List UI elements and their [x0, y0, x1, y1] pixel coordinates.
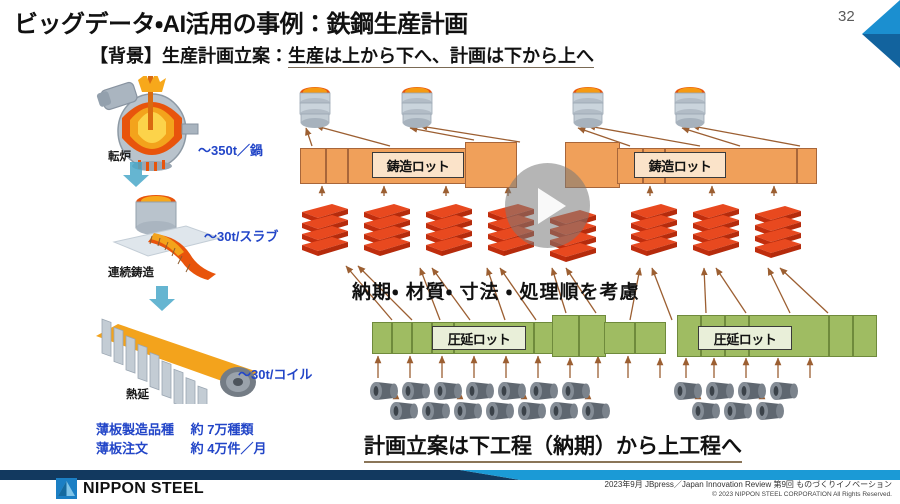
rolling-lot-label: 圧延ロット	[698, 326, 792, 350]
footer-source-line: 2023年9月 JBpress／Japan Innovation Review …	[605, 479, 893, 490]
steel-coil-icon	[420, 401, 450, 421]
subtitle-underlined: 生産は上から下へ、計画は下から上へ	[288, 46, 594, 68]
page-title: ビッグデータ・AI活用の事例：鉄鋼生産計画	[14, 4, 468, 39]
footer: NIPPON STEEL 2023年9月 JBpress／Japan Innov…	[0, 470, 900, 504]
slide-canvas: ビッグデータ・AI活用の事例：鉄鋼生産計画 32 【背景】生産計画立案：生産は上…	[0, 0, 900, 504]
steel-coil-icon	[368, 381, 398, 401]
nippon-steel-mark	[56, 478, 77, 499]
steel-coil-icon	[464, 381, 494, 401]
casting-lot-cell	[797, 148, 817, 184]
steel-coil-icon	[452, 401, 482, 421]
rolling-lot-cell	[552, 315, 579, 357]
rolling-lot-cell	[604, 322, 635, 354]
play-button-icon[interactable]	[505, 163, 590, 248]
casting-lot-bar	[465, 142, 517, 188]
nippon-steel-logo: NIPPON STEEL	[56, 478, 204, 499]
play-triangle	[538, 188, 566, 224]
process-column: 転炉 ～350t／鍋 連続鋳造 ～30t/スラブ	[86, 74, 296, 404]
footer-copyright: © 2023 NIPPON STEEL CORPORATION All Righ…	[712, 491, 892, 498]
steel-coil-icon	[400, 381, 430, 401]
steel-coil-icon	[496, 381, 526, 401]
rolling-lot-cell	[392, 322, 412, 354]
steel-coil-icon	[580, 401, 610, 421]
rolling-lot-cell	[372, 322, 392, 354]
steel-coil-icon	[672, 381, 702, 401]
steel-slab-stack-icon	[627, 200, 679, 256]
steel-coil-icon	[768, 381, 798, 401]
process-note-hotrolling: ～30t/コイル	[238, 364, 312, 383]
steel-coil-icon	[432, 381, 462, 401]
steel-slab-stack-icon	[422, 200, 474, 256]
blue-chevron-icon	[840, 0, 900, 68]
rolling-lot-bar	[552, 315, 606, 357]
rolling-lot-bar	[604, 322, 666, 354]
steel-coil-icon	[388, 401, 418, 421]
steel-slab-stack-icon	[751, 202, 803, 258]
steel-coil-icon	[722, 401, 752, 421]
casting-lot-label: 鋳造ロット	[372, 152, 464, 178]
steel-coil-icon	[754, 401, 784, 421]
rolling-lot-cell	[829, 315, 853, 357]
steel-coil-icon	[704, 381, 734, 401]
rolling-lot-cell	[579, 315, 606, 357]
casting-lot-cell	[326, 148, 348, 184]
process-label-hotrolling: 熱延	[126, 386, 149, 402]
logo-text: NIPPON STEEL	[83, 480, 204, 498]
steel-coil-icon	[548, 401, 578, 421]
steel-coil-icon	[528, 381, 558, 401]
steel-coil-icon	[516, 401, 546, 421]
rolling-lot-label: 圧延ロット	[432, 326, 526, 350]
steel-slab-stack-icon	[689, 200, 741, 256]
statistics-block: 薄板製造品種 約 7万種類 薄板注文 約 4万件／月	[96, 420, 266, 458]
planning-direction-text: 計画立案は下工程（納期）から上工程へ	[364, 430, 742, 463]
casting-lot-label: 鋳造ロット	[634, 152, 726, 178]
rolling-lot-cell	[412, 322, 432, 354]
stat-line-2: 薄板注文 約 4万件／月	[96, 439, 266, 458]
process-note-converter: ～350t／鍋	[198, 140, 263, 159]
subtitle: 【背景】生産計画立案：生産は上から下へ、計画は下から上へ	[90, 42, 594, 68]
steel-coil-icon	[560, 381, 590, 401]
molten-steel-ladle-icon	[569, 84, 607, 130]
molten-steel-ladle-icon	[296, 84, 334, 130]
hot-rolling-mill-icon	[88, 294, 288, 404]
steel-coil-icon	[736, 381, 766, 401]
molten-steel-ladle-icon	[398, 84, 436, 130]
molten-steel-ladle-icon	[671, 84, 709, 130]
consideration-text: 納期・ 材質・ 寸法 ・ 処理順を考慮	[352, 277, 640, 304]
process-note-casting: ～30t/スラブ	[204, 226, 278, 245]
steel-slab-stack-icon	[360, 200, 412, 256]
process-label-casting: 連続鋳造	[108, 264, 154, 280]
stat-line-1: 薄板製造品種 約 7万種類	[96, 420, 266, 439]
steel-coil-icon	[484, 401, 514, 421]
rolling-lot-cell	[853, 315, 877, 357]
casting-lot-cell	[300, 148, 326, 184]
subtitle-prefix: 【背景】生産計画立案：	[90, 46, 288, 66]
steel-slab-stack-icon	[298, 200, 350, 256]
steel-coil-icon	[690, 401, 720, 421]
rolling-lot-cell	[635, 322, 666, 354]
